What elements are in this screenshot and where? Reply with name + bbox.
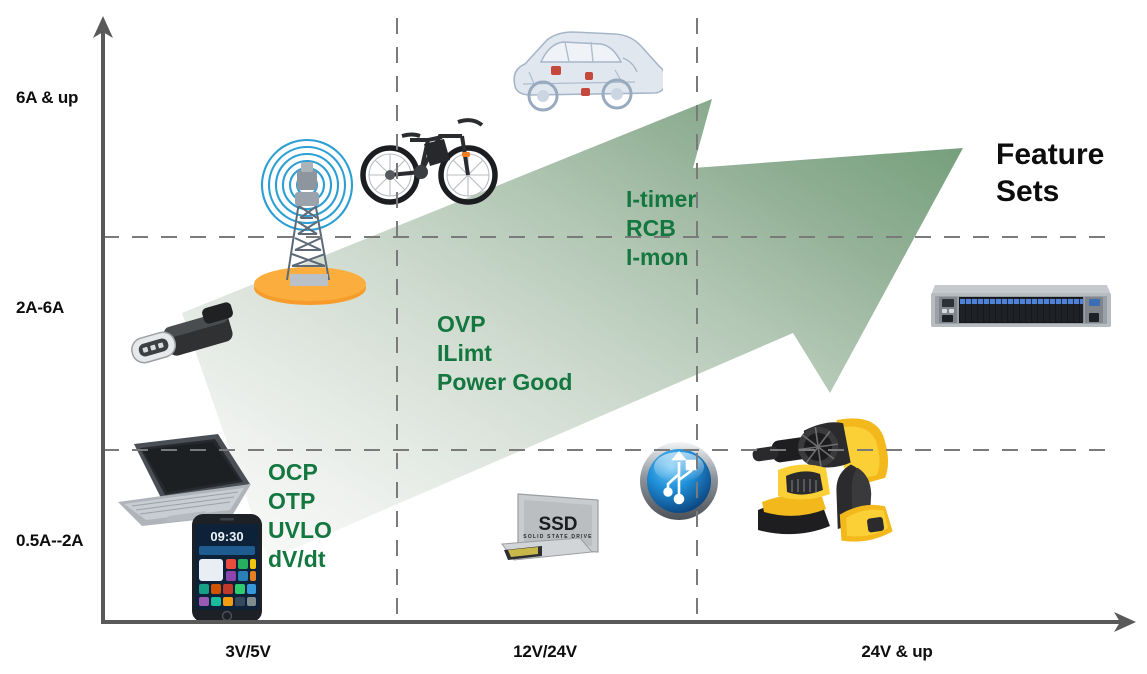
low-power-features: OCP OTP UVLO dV/dt: [268, 458, 332, 574]
feature-power-good: Power Good: [437, 368, 572, 397]
feature-uvlo: UVLO: [268, 516, 332, 545]
feature-i-mon: I-mon: [626, 243, 696, 272]
feature-set-diagram: 09:30 SSD SOLID STATE DRIVE: [0, 0, 1147, 674]
feature-ocp: OCP: [268, 458, 332, 487]
feature-ilimt: ILimt: [437, 339, 572, 368]
feature-i-timer: I-timer: [626, 185, 696, 214]
y-tick-label-2a: 2A-6A: [16, 298, 64, 318]
axes-and-gridlines: [0, 0, 1147, 674]
y-tick-label-05a: 0.5A--2A: [16, 531, 83, 551]
page-title-line1: Feature: [996, 136, 1104, 173]
feature-dvdt: dV/dt: [268, 545, 332, 574]
x-tick-label-12v24v: 12V/24V: [475, 642, 615, 662]
feature-rcb: RCB: [626, 214, 696, 243]
y-tick-label-6a: 6A & up: [16, 88, 78, 108]
feature-otp: OTP: [268, 487, 332, 516]
feature-ovp: OVP: [437, 310, 572, 339]
high-power-features: I-timer RCB I-mon: [626, 185, 696, 272]
x-tick-label-3v5v: 3V/5V: [178, 642, 318, 662]
mid-power-features: OVP ILimt Power Good: [437, 310, 572, 397]
x-tick-label-24v-up: 24V & up: [822, 642, 972, 662]
page-title-line2: Sets: [996, 173, 1104, 210]
page-title: Feature Sets: [996, 136, 1104, 210]
